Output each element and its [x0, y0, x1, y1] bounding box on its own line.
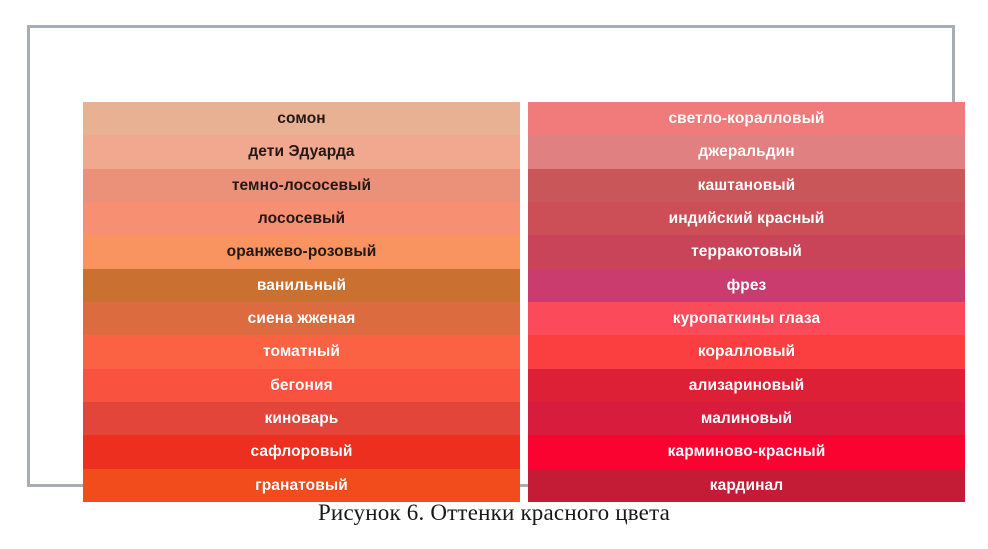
figure-page: сомон дети Эдуарда темно-лососевый лосос… — [0, 0, 988, 549]
swatch-row[interactable]: терракотовый — [528, 235, 965, 268]
left-color-column: сомон дети Эдуарда темно-лососевый лосос… — [83, 102, 520, 502]
swatch-row[interactable]: коралловый — [528, 335, 965, 368]
swatch-row[interactable]: каштановый — [528, 169, 965, 202]
figure-caption: Рисунок 6. Оттенки красного цвета — [0, 500, 988, 526]
swatch-row[interactable]: сафлоровый — [83, 435, 520, 468]
swatch-row[interactable]: лососевый — [83, 202, 520, 235]
swatch-row[interactable]: темно-лососевый — [83, 169, 520, 202]
swatch-row[interactable]: оранжево-розовый — [83, 235, 520, 268]
swatch-row[interactable]: малиновый — [528, 402, 965, 435]
swatch-row[interactable]: киноварь — [83, 402, 520, 435]
swatch-row[interactable]: дети Эдуарда — [83, 135, 520, 168]
swatch-row[interactable]: ализариновый — [528, 369, 965, 402]
swatch-row[interactable]: томатный — [83, 335, 520, 368]
swatch-row[interactable]: светло-коралловый — [528, 102, 965, 135]
swatch-row[interactable]: кардинал — [528, 469, 965, 502]
swatch-row[interactable]: индийский красный — [528, 202, 965, 235]
swatch-row[interactable]: джеральдин — [528, 135, 965, 168]
right-color-column: светло-коралловый джеральдин каштановый … — [528, 102, 965, 502]
color-swatch-area: сомон дети Эдуарда темно-лососевый лосос… — [83, 102, 965, 502]
swatch-row[interactable]: карминово-красный — [528, 435, 965, 468]
swatch-row[interactable]: гранатовый — [83, 469, 520, 502]
figure-frame: сомон дети Эдуарда темно-лососевый лосос… — [27, 25, 955, 487]
swatch-row[interactable]: сиена жженая — [83, 302, 520, 335]
swatch-row[interactable]: фрез — [528, 269, 965, 302]
swatch-row[interactable]: сомон — [83, 102, 520, 135]
swatch-row[interactable]: куропаткины глаза — [528, 302, 965, 335]
swatch-row[interactable]: ванильный — [83, 269, 520, 302]
swatch-row[interactable]: бегония — [83, 369, 520, 402]
